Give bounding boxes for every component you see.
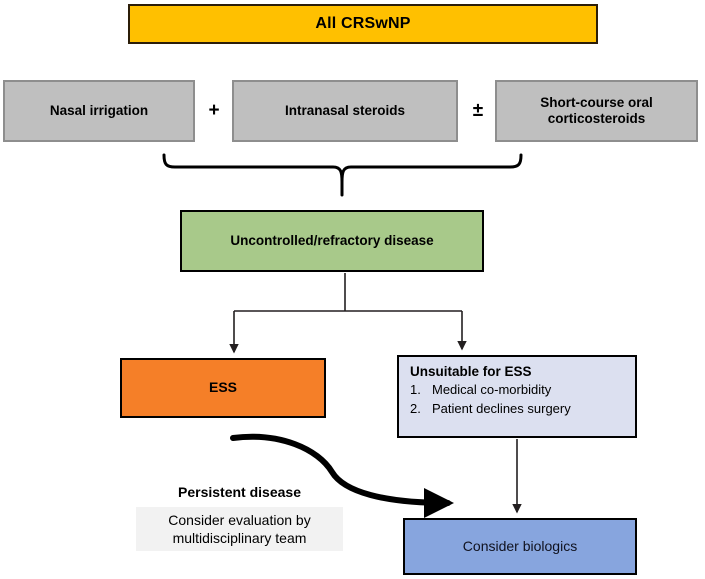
node-uncontrolled-refractory-disease-label: Uncontrolled/refractory disease [230,233,433,249]
node-ess: ESS [120,358,326,418]
label-persistent-disease: Persistent disease [136,484,343,500]
node-nasal-irrigation-label: Nasal irrigation [50,103,148,119]
node-nasal-irrigation: Nasal irrigation [3,80,195,142]
label-multidisciplinary-team: Consider evaluation by multidisciplinary… [136,507,343,551]
list-item-number: 2. [410,400,432,419]
node-ess-label: ESS [209,379,237,396]
operator-plus-minus-glyph: ± [473,100,483,122]
operator-plus-minus-symbol: ± [464,80,492,142]
brace-connector [155,152,530,200]
unsuitable-reason-list: 1. Medical co-morbidity 2. Patient decli… [410,381,635,419]
list-item-text: Patient declines surgery [432,400,571,419]
node-unsuitable-for-ess: Unsuitable for ESS 1. Medical co-morbidi… [397,355,637,438]
node-unsuitable-for-ess-heading: Unsuitable for ESS [410,364,635,380]
brace-path [164,155,521,182]
list-item-text: Medical co-morbidity [432,381,551,400]
node-short-course-oral-corticosteroids: Short-course oral corticosteroids [495,80,698,142]
node-uncontrolled-refractory-disease: Uncontrolled/refractory disease [180,210,484,272]
label-mdt-line2: multidisciplinary team [173,530,307,546]
operator-plus-glyph: + [208,100,219,122]
node-consider-biologics-label: Consider biologics [463,538,577,555]
node-intranasal-steroids-label: Intranasal steroids [285,103,405,119]
list-item: 1. Medical co-morbidity [410,381,635,400]
label-mdt-line1: Consider evaluation by [168,512,310,528]
list-item-number: 1. [410,381,432,400]
node-consider-biologics: Consider biologics [403,518,637,575]
node-intranasal-steroids: Intranasal steroids [232,80,458,142]
operator-plus-symbol: + [200,80,228,142]
flowchart-canvas: All CRSwNP Nasal irrigation + Intranasal… [0,0,705,579]
node-all-crswnp-label: All CRSwNP [315,14,410,34]
list-item: 2. Patient declines surgery [410,400,635,419]
node-all-crswnp: All CRSwNP [128,4,598,44]
label-persistent-disease-text: Persistent disease [178,484,301,500]
node-short-course-oral-corticosteroids-label: Short-course oral corticosteroids [503,95,690,128]
